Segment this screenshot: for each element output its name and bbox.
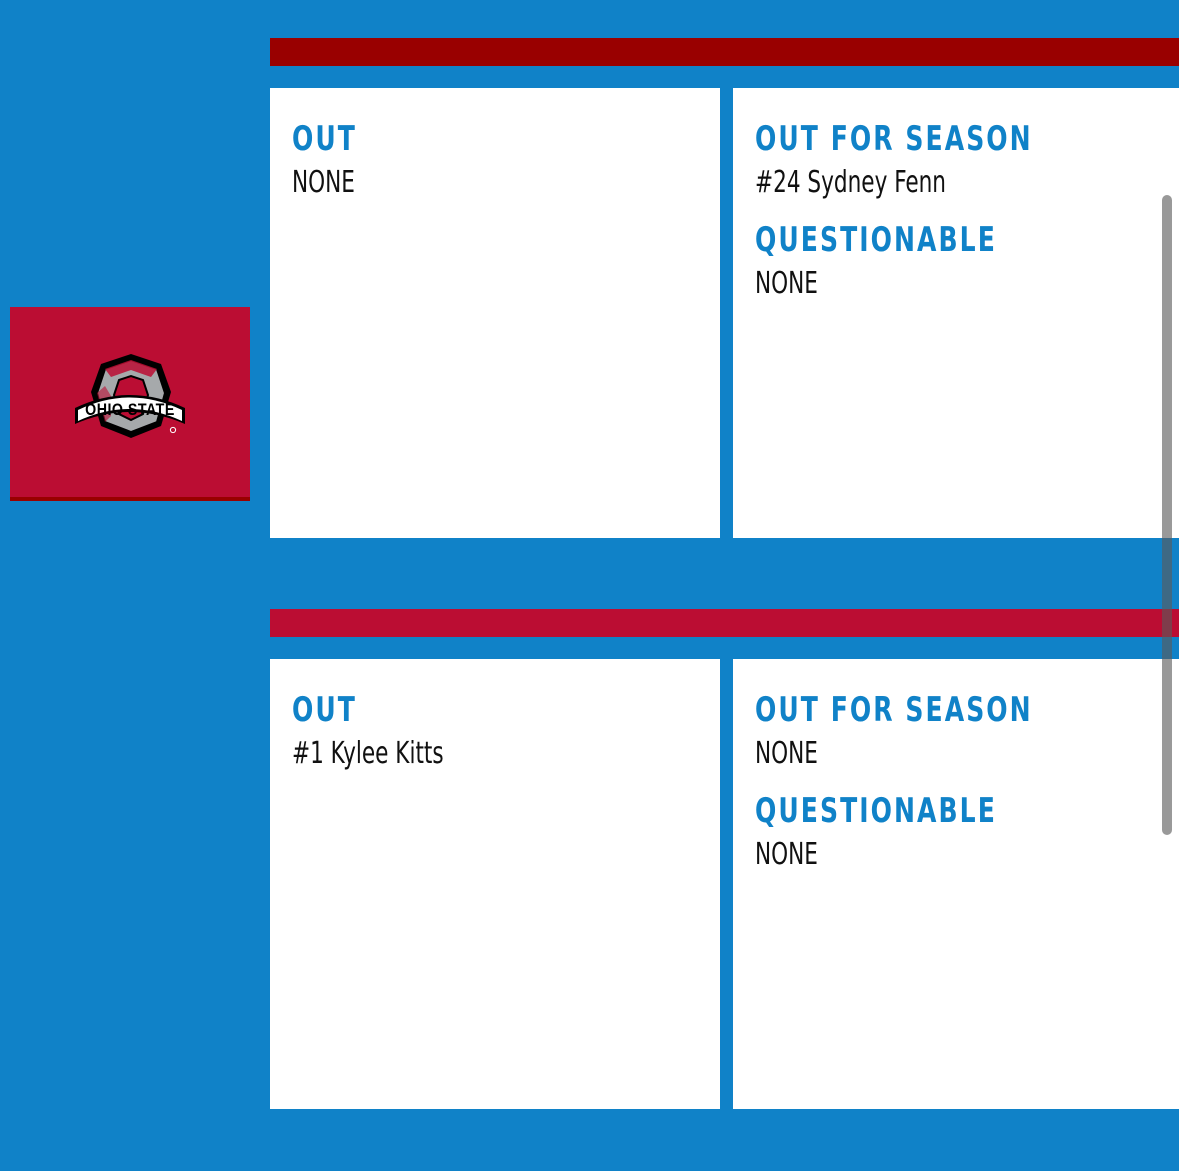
- vertical-scrollbar-thumb[interactable]: [1162, 195, 1172, 835]
- status-value: NONE: [292, 164, 614, 202]
- status-label: OUT: [292, 693, 622, 729]
- status-label: OUT FOR SEASON: [755, 122, 1090, 158]
- status-value: NONE: [755, 265, 1081, 303]
- status-value: NONE: [755, 735, 1081, 773]
- injury-card-left-ohio-state: OUT #1 Kylee Kitts: [270, 659, 720, 1109]
- status-block: OUT FOR SEASON #24 Sydney Fenn: [755, 122, 1163, 201]
- status-label: QUESTIONABLE: [755, 223, 1090, 259]
- status-label: QUESTIONABLE: [755, 794, 1090, 830]
- ohio-state-buckeyes-logo: OHIO STATE: [71, 350, 189, 454]
- status-label: OUT FOR SEASON: [755, 693, 1090, 729]
- injury-card-left-indiana: OUT NONE: [270, 88, 720, 538]
- status-block: OUT NONE: [292, 122, 694, 201]
- status-block: QUESTIONABLE NONE: [755, 223, 1163, 302]
- injury-card-right-ohio-state: OUT FOR SEASON NONE QUESTIONABLE NONE: [733, 659, 1179, 1109]
- status-value: #1 Kylee Kitts: [292, 735, 614, 773]
- team-accent-bar-indiana: [270, 38, 1179, 66]
- status-label: OUT: [292, 122, 622, 158]
- vertical-scrollbar-track[interactable]: [1162, 0, 1173, 1171]
- injury-report-page: OUT NONE OUT FOR SEASON #24 Sydney Fenn …: [0, 0, 1179, 1171]
- injury-cards-indiana: OUT NONE OUT FOR SEASON #24 Sydney Fenn …: [270, 88, 1179, 538]
- injury-card-right-indiana: OUT FOR SEASON #24 Sydney Fenn QUESTIONA…: [733, 88, 1179, 538]
- status-value: #24 Sydney Fenn: [755, 164, 1081, 202]
- status-block: OUT FOR SEASON NONE: [755, 693, 1163, 772]
- status-block: QUESTIONABLE NONE: [755, 794, 1163, 873]
- status-block: OUT #1 Kylee Kitts: [292, 693, 694, 772]
- svg-text:OHIO STATE: OHIO STATE: [85, 401, 175, 419]
- team-accent-bar-ohio-state: [270, 609, 1179, 637]
- injury-cards-ohio-state: OUT #1 Kylee Kitts OUT FOR SEASON NONE Q…: [270, 659, 1179, 1109]
- logo-inner: OHIO STATE: [45, 335, 215, 470]
- team-section-ohio-state: OUT #1 Kylee Kitts OUT FOR SEASON NONE Q…: [0, 609, 1179, 1109]
- status-value: NONE: [755, 836, 1081, 874]
- team-logo-tile-ohio-state[interactable]: OHIO STATE: [10, 307, 250, 497]
